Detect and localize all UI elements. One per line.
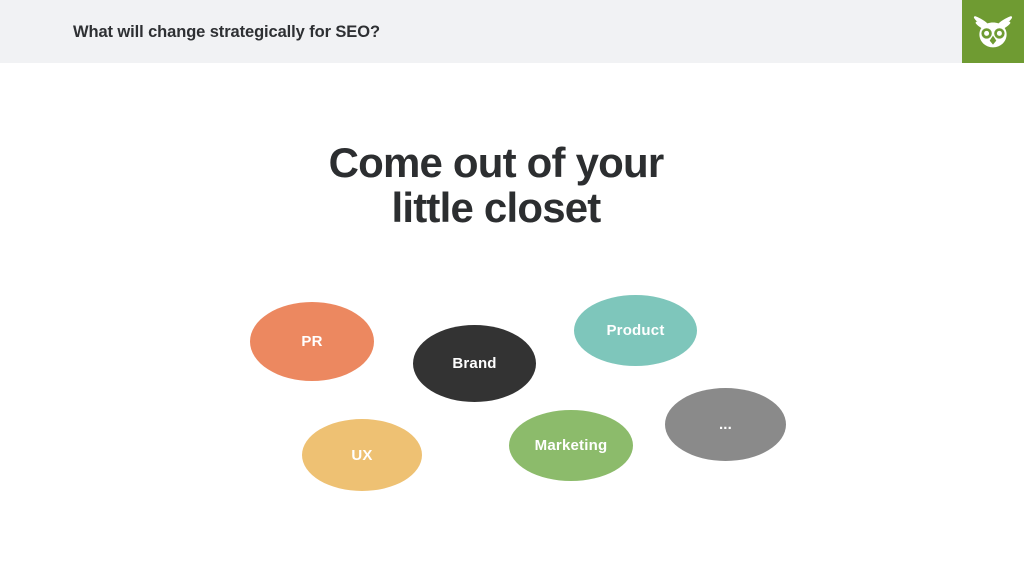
bubble-product-label: Product	[606, 322, 664, 339]
bubble-more: ...	[665, 388, 786, 461]
brand-logo	[962, 0, 1024, 63]
bubble-marketing-label: Marketing	[535, 437, 608, 454]
bubble-brand-label: Brand	[452, 355, 496, 372]
bubble-ux: UX	[302, 419, 422, 491]
bubble-pr: PR	[250, 302, 374, 381]
header-title: What will change strategically for SEO?	[73, 23, 380, 42]
header-bar: What will change strategically for SEO?	[0, 0, 1024, 63]
slide-body: Come out of your little closet PR Brand …	[0, 63, 1024, 575]
bubble-cluster: PR Brand Product ... UX Marketing	[0, 63, 1024, 575]
bubble-more-label: ...	[719, 416, 732, 433]
bubble-pr-label: PR	[301, 333, 322, 350]
bubble-ux-label: UX	[351, 447, 372, 464]
bubble-product: Product	[574, 295, 697, 366]
bubble-brand: Brand	[413, 325, 536, 402]
bubble-marketing: Marketing	[509, 410, 633, 481]
owl-icon	[973, 14, 1013, 50]
